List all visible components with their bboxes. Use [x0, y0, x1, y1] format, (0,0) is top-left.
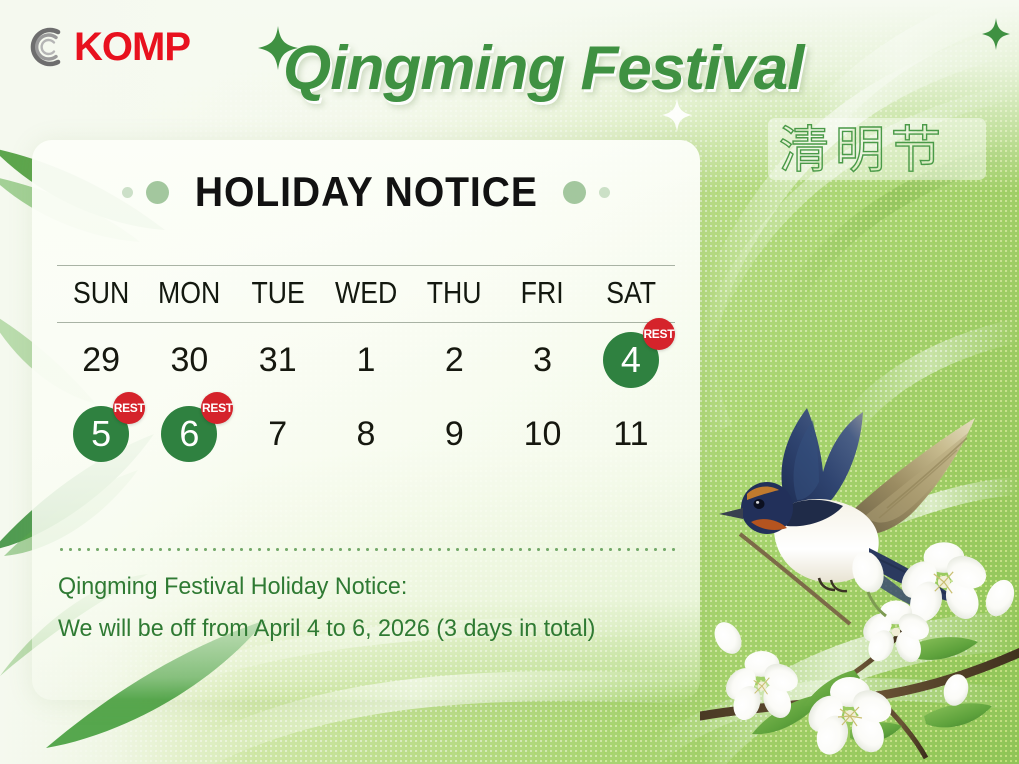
calendar-week-row: 5 REST 6 REST 7 8 9 10 11	[57, 397, 675, 471]
weekday-mon: MON	[151, 275, 227, 311]
calendar-day[interactable]: 10	[498, 397, 586, 471]
brand-logo: KOMP	[22, 24, 190, 70]
weekday-sat: SAT	[593, 275, 669, 311]
calendar-day[interactable]: 1	[322, 323, 410, 397]
c-monogram-icon	[22, 24, 68, 70]
day-number: 2	[445, 341, 464, 380]
weekday-wed: WED	[328, 275, 404, 311]
day-number: 10	[524, 415, 562, 454]
day-number: 8	[357, 415, 376, 454]
calendar-day[interactable]: 11	[587, 397, 675, 471]
calendar-day[interactable]: 30	[145, 323, 233, 397]
note-line-1: Qingming Festival Holiday Notice:	[58, 572, 679, 602]
calendar-day-rest[interactable]: 5 REST	[57, 397, 145, 471]
day-number: 29	[82, 341, 120, 380]
day-number: 30	[171, 341, 209, 380]
calendar-day[interactable]: 8	[322, 397, 410, 471]
weekday-fri: FRI	[505, 275, 581, 311]
day-number: 5	[91, 413, 111, 455]
day-number: 31	[259, 341, 297, 380]
page-title: Qingming Festival	[283, 38, 803, 100]
calendar-day[interactable]: 31	[234, 323, 322, 397]
notice-heading: HOLIDAY NOTICE	[32, 168, 700, 216]
calendar-day[interactable]: 2	[410, 323, 498, 397]
calendar-day-rest[interactable]: 4 REST	[587, 323, 675, 397]
day-number: 11	[613, 415, 648, 454]
weekday-tue: TUE	[240, 275, 316, 311]
decorative-dot-icon	[599, 187, 610, 198]
rest-day-marker: 4 REST	[603, 332, 659, 388]
notice-card: HOLIDAY NOTICE SUN MON TUE WED THU FRI S…	[32, 140, 700, 700]
rest-badge: REST	[201, 392, 233, 424]
day-number: 9	[445, 415, 464, 454]
holiday-note: Qingming Festival Holiday Notice: We wil…	[58, 572, 698, 656]
calendar: SUN MON TUE WED THU FRI SAT 29 30 31 1 2…	[57, 265, 675, 471]
sparkle-star-icon	[982, 18, 1010, 50]
decorative-dot-icon	[146, 181, 169, 204]
weekday-sun: SUN	[63, 275, 139, 311]
day-number: 7	[268, 415, 287, 454]
rest-badge: REST	[113, 392, 145, 424]
holiday-notice-poster: KOMP Qingming Festival 清明节 HOLIDAY NOTIC…	[0, 0, 1019, 764]
calendar-rule-top	[57, 265, 675, 266]
day-number: 4	[621, 339, 641, 381]
calendar-day-rest[interactable]: 6 REST	[145, 397, 233, 471]
calendar-day[interactable]: 29	[57, 323, 145, 397]
day-number: 3	[533, 341, 552, 380]
decorative-dot-icon	[122, 187, 133, 198]
rest-day-marker: 6 REST	[161, 406, 217, 462]
decorative-dot-icon	[563, 181, 586, 204]
calendar-day[interactable]: 7	[234, 397, 322, 471]
day-number: 6	[179, 413, 199, 455]
calendar-weekday-header: SUN MON TUE WED THU FRI SAT	[57, 266, 675, 322]
sparkle-star-icon	[662, 98, 692, 132]
notice-title: HOLIDAY NOTICE	[195, 168, 538, 216]
rest-badge: REST	[643, 318, 675, 350]
brand-name: KOMP	[74, 27, 190, 67]
calendar-day[interactable]: 3	[498, 323, 586, 397]
rest-day-marker: 5 REST	[73, 406, 129, 462]
footer-divider	[57, 548, 675, 551]
page-title-chinese: 清明节	[779, 120, 947, 180]
calendar-day[interactable]: 9	[410, 397, 498, 471]
weekday-thu: THU	[416, 275, 492, 311]
note-line-2: We will be off from April 4 to 6, 2026 (…	[58, 614, 679, 644]
day-number: 1	[357, 341, 376, 380]
calendar-week-row: 29 30 31 1 2 3 4 REST	[57, 323, 675, 397]
